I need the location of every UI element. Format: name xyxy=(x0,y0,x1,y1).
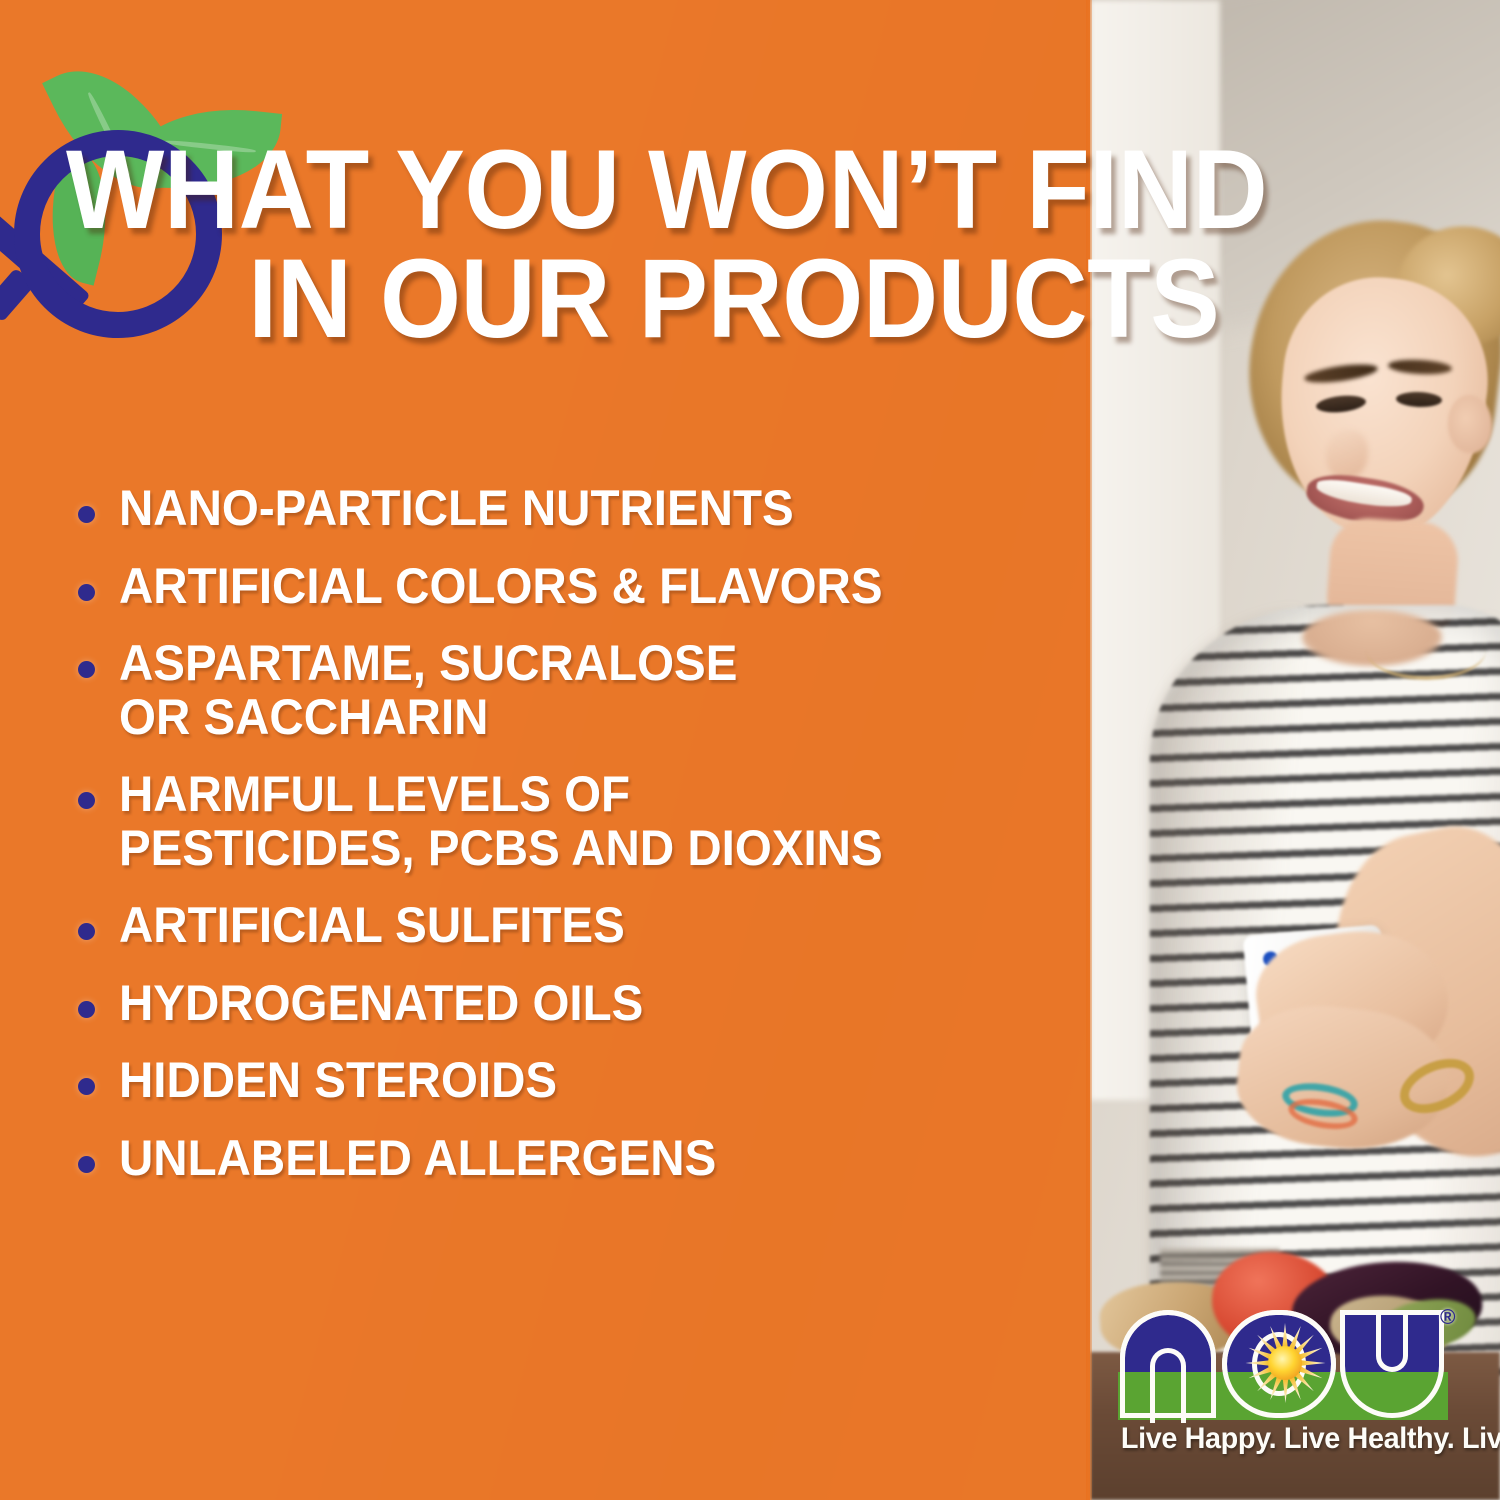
list-item-label: HARMFUL LEVELS OF PESTICIDES, PCBS AND D… xyxy=(119,768,883,875)
necklace xyxy=(1366,620,1486,680)
page-title: WHAT YOU WON’T FIND IN OUR PRODUCTS xyxy=(66,136,1368,353)
bullet-dot-icon xyxy=(78,584,95,601)
woman-figure xyxy=(1130,190,1500,1370)
bullet-dot-icon xyxy=(78,792,95,809)
logo-n-notch xyxy=(1150,1348,1186,1423)
now-brand-logo: ® Live Happy. Live Healthy. Live NOW. xyxy=(1118,1300,1470,1475)
sun-core xyxy=(1268,1346,1302,1380)
now-wordmark: ® xyxy=(1118,1300,1448,1420)
list-item-label: HIDDEN STEROIDS xyxy=(119,1054,557,1108)
headline-line-1: WHAT YOU WON’T FIND xyxy=(66,136,1368,245)
list-item: NANO-PARTICLE NUTRIENTS xyxy=(78,482,1078,536)
bullet-dot-icon xyxy=(78,661,95,678)
list-item-label: UNLABELED ALLERGENS xyxy=(119,1132,716,1186)
promo-graphic: WHAT YOU WON’T FIND IN OUR PRODUCTS NANO… xyxy=(0,0,1500,1500)
list-item: HIDDEN STEROIDS xyxy=(78,1054,1078,1108)
list-item-label: ARTIFICIAL SULFITES xyxy=(119,899,625,953)
excluded-ingredients-list: NANO-PARTICLE NUTRIENTS ARTIFICIAL COLOR… xyxy=(78,482,1078,1209)
bullet-dot-icon xyxy=(78,1156,95,1173)
list-item-label: NANO-PARTICLE NUTRIENTS xyxy=(119,482,794,536)
headline-part-2: FIND xyxy=(998,127,1268,252)
list-item: HYDROGENATED OILS xyxy=(78,977,1078,1031)
headline-part-1: WHAT YOU xyxy=(66,127,648,252)
list-item-label: HYDROGENATED OILS xyxy=(119,977,643,1031)
bullet-dot-icon xyxy=(78,1001,95,1018)
headline-emphasis: WON’T xyxy=(648,127,997,252)
list-item-label: ASPARTAME, SUCRALOSE OR SACCHARIN xyxy=(119,637,737,744)
brand-tagline: Live Happy. Live Healthy. Live NOW. xyxy=(1121,1422,1453,1456)
bullet-dot-icon xyxy=(78,506,95,523)
bullet-dot-icon xyxy=(78,923,95,940)
registered-trademark-icon: ® xyxy=(1440,1306,1455,1330)
bullet-dot-icon xyxy=(78,1078,95,1095)
list-item: ASPARTAME, SUCRALOSE OR SACCHARIN xyxy=(78,637,1078,744)
sunburst-icon xyxy=(1246,1324,1324,1402)
list-item: ARTIFICIAL COLORS & FLAVORS xyxy=(78,560,1078,614)
list-item: HARMFUL LEVELS OF PESTICIDES, PCBS AND D… xyxy=(78,768,1078,875)
list-item-label: ARTIFICIAL COLORS & FLAVORS xyxy=(119,560,883,614)
logo-w-notch xyxy=(1376,1310,1408,1372)
list-item: UNLABELED ALLERGENS xyxy=(78,1132,1078,1186)
ear xyxy=(1448,395,1492,453)
headline-line-2: IN OUR PRODUCTS xyxy=(66,245,1368,354)
list-item: ARTIFICIAL SULFITES xyxy=(78,899,1078,953)
